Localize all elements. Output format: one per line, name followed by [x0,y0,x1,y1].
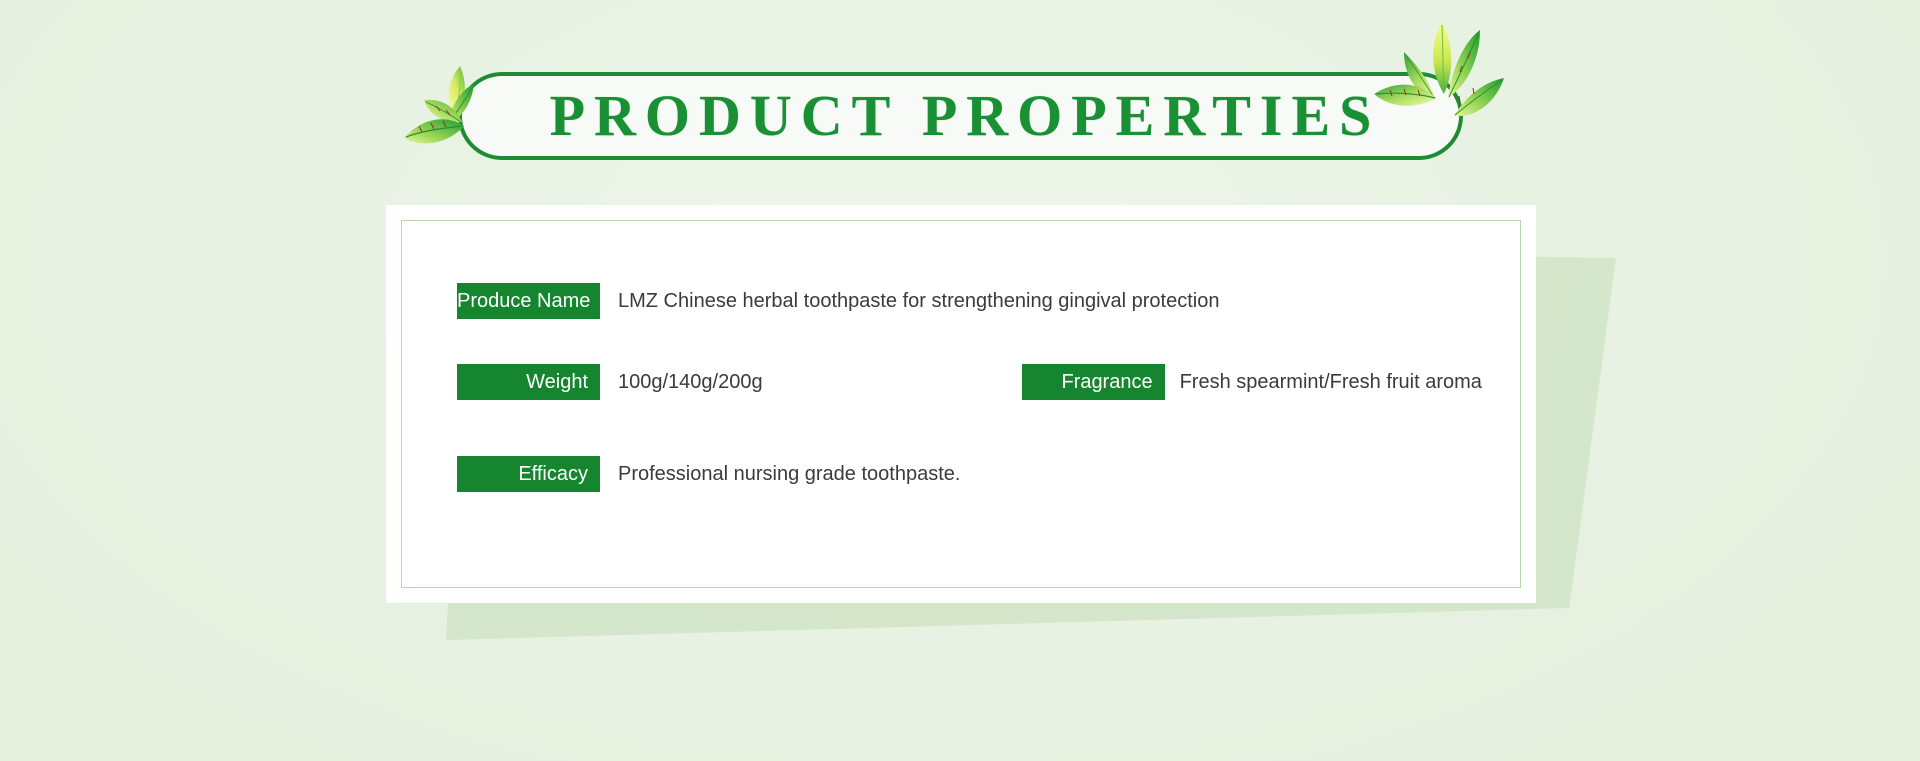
property-row-weight-fragrance: Weight 100g/140g/200g Fragrance Fresh sp… [457,364,1490,400]
property-label-fragrance: Fragrance [1022,364,1165,400]
card-inner-border: Produce Name LMZ Chinese herbal toothpas… [401,220,1521,588]
row-spacer [457,400,1490,456]
page-title-banner: PRODUCT PROPERTIES [398,18,1483,158]
property-value-weight: 100g/140g/200g [600,371,763,394]
row-spacer [457,319,1490,364]
property-row-efficacy: Efficacy Professional nursing grade toot… [457,456,1490,492]
property-value-produce-name: LMZ Chinese herbal toothpaste for streng… [600,290,1219,313]
property-label-efficacy: Efficacy [457,456,600,492]
leaf-cluster-left-icon [398,56,518,166]
page-title: PRODUCT PROPERTIES [541,87,1381,145]
product-properties-card-zone: Produce Name LMZ Chinese herbal toothpas… [386,205,1666,645]
product-properties-card: Produce Name LMZ Chinese herbal toothpas… [386,205,1536,603]
property-pair-produce-name: Produce Name LMZ Chinese herbal toothpas… [457,283,1219,319]
property-label-produce-name: Produce Name [457,283,600,319]
page-title-pill: PRODUCT PROPERTIES [458,72,1463,160]
leaf-cluster-right-icon [1360,16,1525,156]
property-pair-fragrance: Fragrance Fresh spearmint/Fresh fruit ar… [1022,364,1482,400]
properties-list: Produce Name LMZ Chinese herbal toothpas… [457,283,1490,492]
property-pair-efficacy: Efficacy Professional nursing grade toot… [457,456,960,492]
property-value-fragrance: Fresh spearmint/Fresh fruit aroma [1165,371,1482,394]
property-label-weight: Weight [457,364,600,400]
property-value-efficacy: Professional nursing grade toothpaste. [600,463,960,486]
property-row-produce-name: Produce Name LMZ Chinese herbal toothpas… [457,283,1490,319]
property-pair-weight: Weight 100g/140g/200g [457,364,763,400]
